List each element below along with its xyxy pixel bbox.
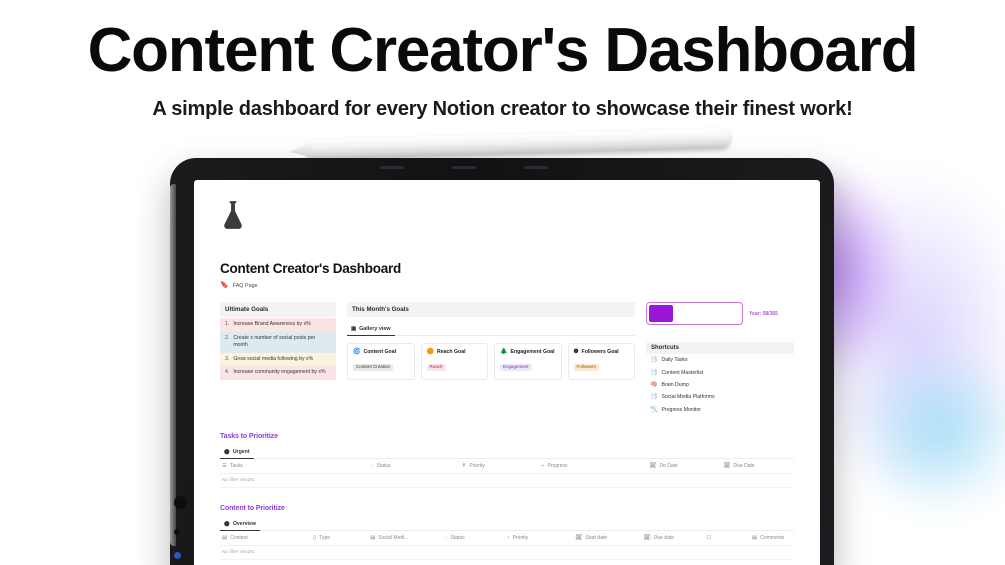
shortcut-label: Progress Monitor — [661, 407, 701, 413]
multi-icon: ▤ — [370, 535, 375, 541]
ultimate-goals-title: Ultimate Goals — [220, 302, 336, 317]
goal-card-title: Followers Goal — [582, 349, 619, 355]
tab-urgent[interactable]: ⬤ Urgent — [220, 445, 254, 459]
table-header-row: ▤ Content ▯ Type ▤ Social Medi... ◌ Stat… — [220, 531, 794, 546]
goal-card-engagement[interactable]: 🌲 Engagement Goal Engagement — [494, 343, 562, 380]
status-badge: Engagement — [500, 364, 532, 372]
tab-gallery-view[interactable]: ▦ Gallery view — [347, 322, 395, 336]
page-root: Content Creator's Dashboard A simple das… — [0, 0, 1005, 565]
status-badge: Content Creation — [353, 364, 393, 372]
shortcut-label: Daily Tasks — [661, 357, 687, 363]
content-to-prioritize-section: Content to Prioritize ⬤ Overview ▤ Conte… — [220, 505, 794, 560]
section-title: Tasks to Prioritize — [220, 433, 794, 440]
column-header-due-date[interactable]: 🗓 Due date — [644, 535, 707, 541]
faq-page-link[interactable]: 🔖 FAQ Page — [220, 282, 794, 289]
column-header-status[interactable]: ◌ Status — [370, 463, 461, 469]
table-header-row: ☰ Tasks ◌ Status ⚘ Priority ⌁ Progress — [220, 459, 794, 474]
empty-state-text: No filter results. — [220, 474, 794, 488]
sidebar-item-progress-monitor[interactable]: 📉 Progress Monitor — [646, 404, 794, 416]
goal-card-title: Content Goal — [363, 349, 396, 355]
page-title: Content Creator's Dashboard — [220, 261, 794, 276]
purple-flower-icon: ❁ — [574, 349, 579, 355]
column-label: Start date — [585, 535, 607, 541]
goal-text: Grow social media following by x% — [233, 356, 313, 364]
column-label: Due date — [654, 535, 674, 541]
tablet-indicator-led — [174, 552, 181, 559]
goal-card-reach[interactable]: 🟠 Reach Goal Reach — [421, 343, 489, 380]
tablet-button-2[interactable] — [174, 529, 180, 535]
list-item[interactable]: 1. Increase Brand Awareness by x% — [220, 318, 336, 332]
column-header-checkbox[interactable]: ☐ — [706, 535, 752, 541]
date-icon: 🗓 — [724, 463, 731, 469]
chart-icon: 📉 — [650, 407, 657, 413]
green-pin-icon: 🌲 — [500, 349, 507, 355]
date-icon: 🗓 — [644, 535, 651, 541]
column-header-type[interactable]: ▯ Type — [313, 535, 370, 541]
sidebar-item-daily-tasks[interactable]: 📑 Daily Tasks — [646, 354, 794, 366]
column-label: Social Medi... — [378, 535, 408, 541]
ultimate-goals-list: 1. Increase Brand Awareness by x% 2. Cre… — [220, 318, 336, 380]
status-icon: ◌ — [444, 535, 447, 541]
goal-text: Create x number of social posts per mont… — [233, 335, 331, 350]
tablet-button-1[interactable] — [174, 496, 187, 509]
note-icon: 📑 — [650, 394, 657, 400]
tab-overview-content[interactable]: ⬤ Overview — [220, 517, 260, 531]
goal-number: 2. — [225, 335, 229, 350]
months-goals-title: This Month's Goals — [347, 302, 635, 317]
column-label: Status — [451, 535, 465, 541]
column-label: Comments — [760, 535, 784, 541]
tablet-top-sensors — [380, 166, 620, 170]
right-column: Year: 58/365 Shortcuts 📑 Daily Tasks 📑 C… — [646, 302, 794, 416]
column-label: Status — [376, 463, 390, 469]
stylus-pen — [305, 128, 730, 160]
status-badge: Reach — [427, 364, 446, 372]
tab-label: Overview — [233, 521, 256, 527]
column-label: Due Date — [734, 463, 755, 469]
column-header-progress[interactable]: ⌁ Progress — [541, 463, 649, 469]
year-progress-bar — [646, 302, 743, 325]
shortcuts-list: 📑 Daily Tasks 📑 Content Masterlist 🧠 Bra… — [646, 354, 794, 416]
goal-number: 1. — [225, 321, 229, 329]
column-label: Do Date — [659, 463, 677, 469]
text-icon: ▤ — [752, 535, 757, 541]
list-item[interactable]: 3. Grow social media following by x% — [220, 353, 336, 367]
tablet-device: Content Creator's Dashboard 🔖 FAQ Page U… — [170, 158, 834, 565]
empty-state-text: No filter results. — [220, 546, 794, 560]
column-header-priority[interactable]: ⚘ Priority — [461, 463, 541, 469]
year-progress-row: Year: 58/365 — [646, 302, 794, 325]
list-item[interactable]: 2. Create x number of social posts per m… — [220, 332, 336, 353]
tab-gallery-label: Gallery view — [359, 326, 390, 332]
list-item[interactable]: 4. Increase community engagement by x% — [220, 366, 336, 380]
goal-cards-row: 🌀 Content Goal Content Creation 🟠 Reach … — [347, 343, 635, 380]
ultimate-goals-block: Ultimate Goals 1. Increase Brand Awarene… — [220, 302, 336, 380]
database-icon: ⬤ — [224, 449, 230, 455]
tasks-to-prioritize-section: Tasks to Prioritize ⬤ Urgent ☰ Tasks ◌ S… — [220, 433, 794, 488]
text-icon: ▤ — [222, 535, 227, 541]
column-header-tasks[interactable]: ☰ Tasks — [222, 463, 370, 469]
goal-card-title: Reach Goal — [437, 349, 466, 355]
column-header-due-date[interactable]: 🗓 Due Date — [724, 463, 792, 469]
note-icon: 📑 — [650, 357, 657, 363]
sidebar-item-brain-dump[interactable]: 🧠 Brain Dump — [646, 379, 794, 391]
status-badge: Followers — [574, 364, 599, 372]
flask-icon — [220, 200, 246, 230]
column-header-do-date[interactable]: 🗓 Do Date — [649, 463, 723, 469]
sidebar-item-social-media-platforms[interactable]: 📑 Social Media Platforms — [646, 391, 794, 403]
status-icon: ◌ — [370, 463, 373, 469]
goal-text: Increase community engagement by x% — [233, 369, 325, 377]
column-label: Priority — [469, 463, 485, 469]
year-progress-label: Year: 58/365 — [749, 311, 778, 317]
shortcut-label: Content Masterlist — [661, 370, 703, 376]
tab-label: Urgent — [233, 449, 250, 455]
page-headline: Content Creator's Dashboard — [0, 18, 1005, 83]
faq-page-label: FAQ Page — [233, 283, 258, 289]
shortcut-label: Social Media Platforms — [661, 394, 714, 400]
progress-icon: ⌁ — [541, 463, 544, 469]
blue-circle-icon: 🌀 — [353, 349, 360, 355]
tablet-screen: Content Creator's Dashboard 🔖 FAQ Page U… — [194, 180, 820, 565]
column-header-comments[interactable]: ▤ Comments — [752, 535, 792, 541]
date-icon: 🗓 — [649, 463, 656, 469]
top-columns-row: Ultimate Goals 1. Increase Brand Awarene… — [220, 302, 794, 416]
column-label: Tasks — [230, 463, 243, 469]
goal-card-followers[interactable]: ❁ Followers Goal Followers — [568, 343, 636, 380]
column-header-status[interactable]: ◌ Status — [444, 535, 507, 541]
checkbox-icon: ☐ — [706, 535, 711, 541]
goal-number: 4. — [225, 369, 229, 377]
column-header-social-media[interactable]: ▤ Social Medi... — [370, 535, 444, 541]
priority-icon: ⚘ — [461, 463, 466, 469]
priority-icon: ↑ — [507, 535, 510, 541]
column-header-content[interactable]: ▤ Content — [222, 535, 313, 541]
goal-card-title: Engagement Goal — [510, 349, 554, 355]
shortcuts-title: Shortcuts — [646, 342, 794, 354]
gallery-icon: ▦ — [351, 326, 356, 332]
page-subheadline: A simple dashboard for every Notion crea… — [0, 98, 1005, 121]
column-header-priority[interactable]: ↑ Priority — [507, 535, 575, 541]
orange-circle-icon: 🟠 — [427, 349, 434, 355]
goal-number: 3. — [225, 356, 229, 364]
note-icon: 📑 — [650, 370, 657, 376]
tablet-left-edge — [170, 184, 176, 546]
goal-text: Increase Brand Awareness by x% — [233, 321, 310, 329]
bookmark-icon: 🔖 — [220, 282, 229, 289]
date-icon: 🗓 — [575, 535, 582, 541]
database-icon: ⬤ — [224, 521, 230, 527]
column-label: Type — [319, 535, 330, 541]
section-title: Content to Prioritize — [220, 505, 794, 512]
column-label: Content — [230, 535, 248, 541]
sidebar-item-content-masterlist[interactable]: 📑 Content Masterlist — [646, 366, 794, 378]
text-icon: ☰ — [222, 463, 227, 469]
brain-icon: 🧠 — [650, 382, 657, 388]
shortcut-label: Brain Dump — [661, 382, 688, 388]
select-icon: ▯ — [313, 535, 316, 541]
year-progress-fill — [649, 305, 673, 322]
column-label: Priority — [513, 535, 529, 541]
column-label: Progress — [547, 463, 567, 469]
goal-card-content[interactable]: 🌀 Content Goal Content Creation — [347, 343, 415, 380]
column-header-start-date[interactable]: 🗓 Start date — [575, 535, 643, 541]
months-goals-block: This Month's Goals ▦ Gallery view 🌀 Cont… — [347, 302, 635, 380]
